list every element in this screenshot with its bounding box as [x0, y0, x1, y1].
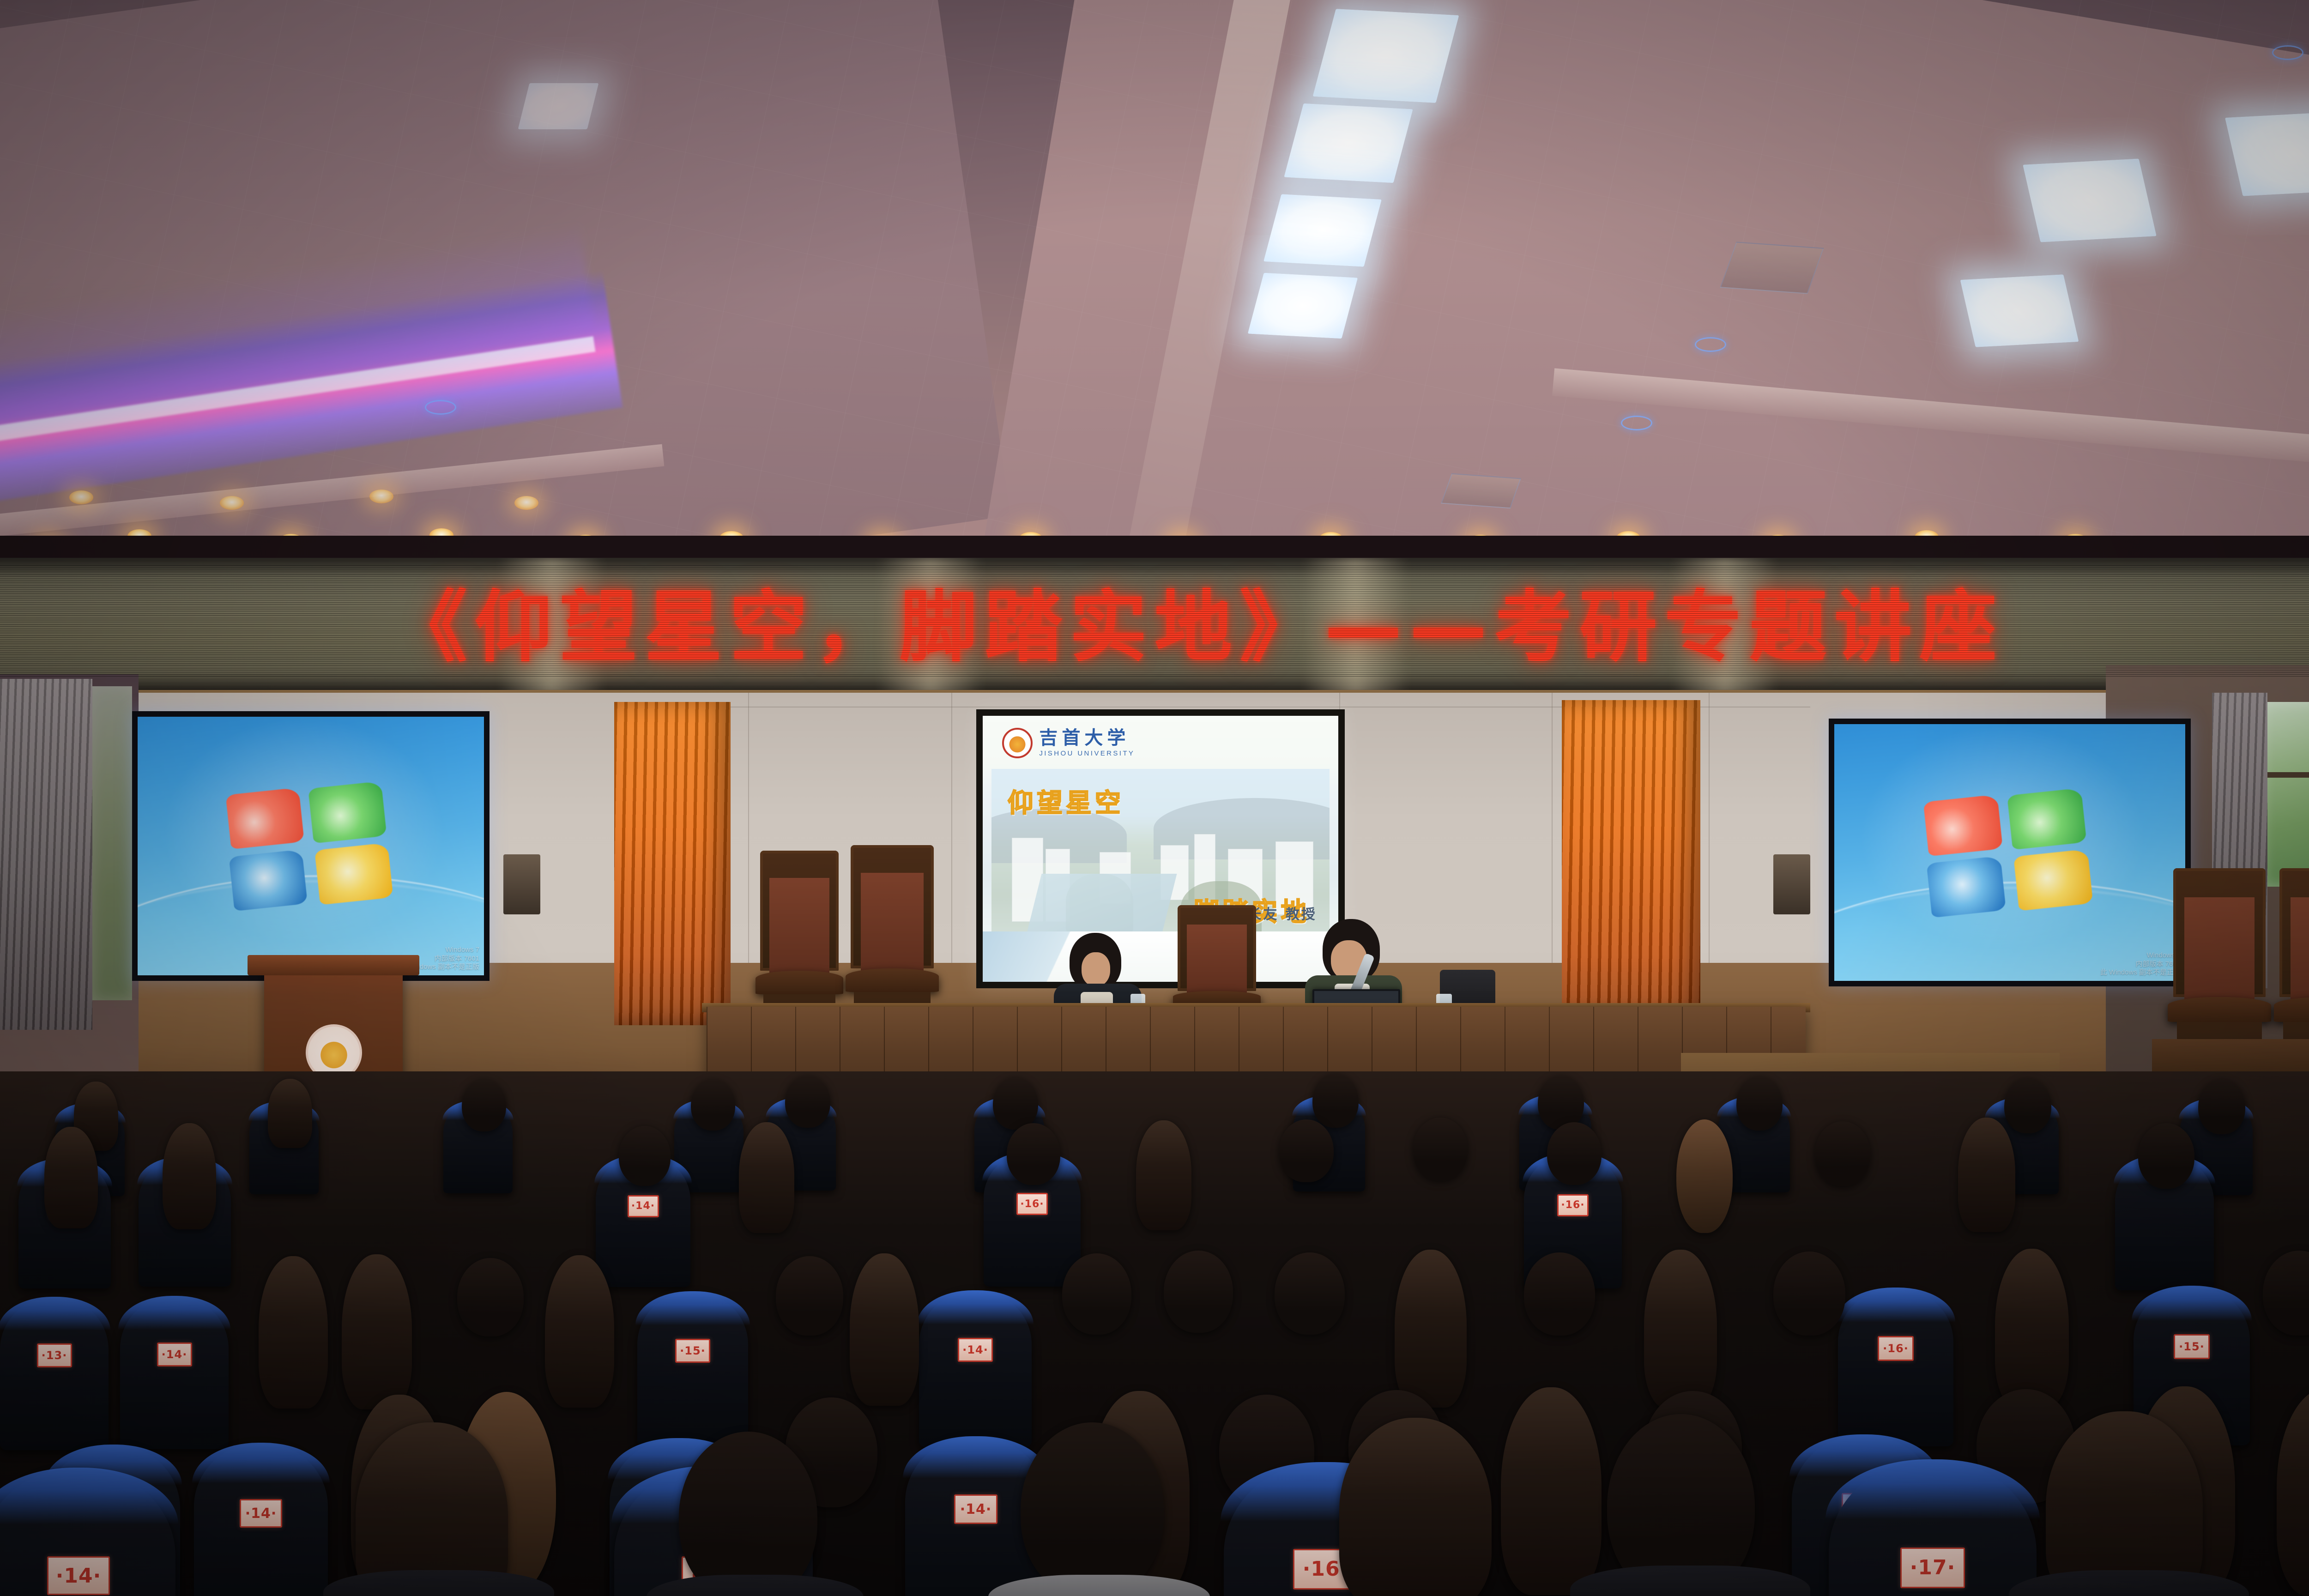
audience-head — [457, 1258, 524, 1336]
window-curtain-left — [0, 679, 92, 1030]
chair-seat — [2274, 997, 2309, 1022]
audience-head — [1395, 1250, 1467, 1408]
chair-seat — [2168, 997, 2271, 1022]
seat-trim — [118, 1296, 230, 1330]
university-name-en: JISHOU UNIVERSITY — [1039, 750, 1135, 757]
audience-head — [2263, 1251, 2309, 1336]
stage-curtain-left — [614, 702, 731, 1025]
window-left — [92, 686, 132, 1000]
presentation-slide: 吉首大学 JISHOU UNIVERSITY 仰望星空 脚踏实地 主讲人 李长友… — [983, 716, 1338, 982]
audience-head — [691, 1080, 735, 1130]
audience-head — [259, 1256, 328, 1409]
seat[interactable]: ·16· — [1838, 1288, 1953, 1446]
audience-head — [2004, 1079, 2051, 1133]
ceiling-panel-light — [1960, 274, 2079, 347]
watermark-line-1: Windows 7 — [399, 946, 479, 955]
windows-logo-quadrant-green — [2007, 788, 2086, 850]
audience-head — [619, 1126, 671, 1186]
ceiling-panel-light — [2023, 158, 2157, 242]
windows-activation-watermark-right: Windows 7 内部版本 7601 此 Windows 副本不是正版 — [2100, 951, 2181, 977]
ceiling-air-vent — [1720, 242, 1824, 294]
audience-head — [2277, 1388, 2309, 1596]
ceiling-speaker-ring — [425, 400, 456, 415]
audience-head — [1815, 1121, 1870, 1186]
slide-bottom-band — [983, 931, 1338, 982]
audience-head — [1736, 1077, 1783, 1130]
audience-head — [1164, 1251, 1233, 1333]
audience-head — [1547, 1122, 1602, 1185]
audience-head — [1339, 1418, 1492, 1596]
audience-head — [1676, 1119, 1733, 1233]
audience-head — [1524, 1252, 1595, 1336]
audience-area: ·12· ·14· ·16· ·16· ·13· — [0, 1071, 2309, 1596]
audience-shoulders — [1570, 1566, 1810, 1596]
chair-seat — [846, 968, 939, 992]
windows-logo-quadrant-yellow — [2013, 849, 2093, 911]
led-banner: 《仰望星空，脚踏实地》——考研专题讲座 — [0, 558, 2309, 696]
wall-speaker-left — [503, 854, 540, 914]
person-face — [1082, 952, 1110, 986]
seat-number-plate: ·13· — [37, 1343, 72, 1367]
window-right-a — [2263, 702, 2309, 887]
audience-head — [679, 1432, 817, 1596]
ceiling-air-vent — [1441, 473, 1521, 509]
seat[interactable]: ·13· — [0, 1298, 109, 1450]
audience-head — [1995, 1249, 2069, 1409]
ceiling — [0, 0, 2309, 536]
chair-pad — [769, 878, 829, 986]
audience-head — [993, 1078, 1038, 1130]
downlight — [514, 496, 538, 510]
audience-head — [268, 1079, 312, 1148]
windows-logo-quadrant-green — [308, 781, 387, 843]
seat-trim — [2132, 1286, 2252, 1321]
watermark-line-1: Windows 7 — [2100, 951, 2181, 960]
projection-screen-left: Windows 7 内部版本 7601 此 Windows 副本不是正版 — [132, 711, 490, 981]
chair-pad — [1187, 925, 1246, 1002]
audience-head — [1958, 1118, 2015, 1232]
seat-number-plate: ·17· — [1900, 1548, 1965, 1588]
audience-head — [44, 1127, 98, 1228]
chair-seat — [756, 971, 843, 994]
seat-number-plate: ·14· — [240, 1499, 282, 1528]
watermark-line-3: 此 Windows 副本不是正版 — [2100, 968, 2181, 977]
projection-screen-right: Windows 7 内部版本 7601 此 Windows 副本不是正版 — [1829, 719, 2191, 986]
ceiling-panel-light — [518, 83, 599, 129]
seat[interactable]: ·14· — [919, 1291, 1032, 1447]
seat[interactable]: ·14· — [194, 1444, 328, 1596]
audience-head — [785, 1076, 830, 1128]
seat-number-plate: ·14· — [628, 1195, 659, 1217]
ceiling-panel-light — [1313, 9, 1459, 103]
window-mullion-horizontal — [2263, 772, 2309, 778]
seat[interactable]: ·15· — [637, 1292, 748, 1447]
audience-head — [1773, 1251, 1845, 1336]
projection-screen-center: 吉首大学 JISHOU UNIVERSITY 仰望星空 脚踏实地 主讲人 李长友… — [976, 709, 1345, 988]
seat-number-plate: ·16· — [1557, 1194, 1589, 1216]
windows-logo-icon — [1923, 786, 2096, 920]
seat-number-plate: ·15· — [675, 1339, 710, 1363]
audience-head — [1538, 1076, 1584, 1130]
university-name-cn: 吉首大学 — [1039, 729, 1135, 747]
ceiling-speaker-ring — [2272, 45, 2303, 60]
led-banner-text: 《仰望星空，脚踏实地》——考研专题讲座 — [0, 564, 2309, 677]
seat-number-plate: ·15· — [2174, 1334, 2210, 1359]
seat-number-plate: ·14· — [954, 1494, 997, 1524]
chair-pad — [2184, 897, 2255, 1014]
audience-head — [1413, 1118, 1468, 1180]
seat[interactable]: ·14· — [120, 1297, 229, 1449]
seat-trim — [1836, 1288, 1955, 1322]
seat[interactable]: ·14· — [0, 1469, 175, 1596]
podium-top — [248, 955, 419, 975]
ceiling-speaker-ring — [1695, 337, 1726, 352]
seat-trim — [0, 1297, 110, 1330]
audience-head — [1275, 1252, 1345, 1335]
seat-number-plate: ·14· — [47, 1556, 110, 1595]
ceiling-panel-light — [1284, 103, 1413, 183]
audience-head — [1501, 1387, 1602, 1595]
audience-head — [776, 1256, 843, 1336]
windows-logo-icon — [225, 779, 396, 913]
downlight — [69, 490, 93, 504]
windows-logo-quadrant-blue — [229, 849, 307, 911]
downlight — [220, 496, 244, 510]
ceiling-panel-light — [1263, 194, 1382, 266]
windows-logo-quadrant-blue — [1927, 856, 2006, 918]
downlight — [369, 490, 393, 503]
audience-head — [2138, 1123, 2194, 1189]
windows-7-desktop-left: Windows 7 内部版本 7601 此 Windows 副本不是正版 — [138, 717, 484, 975]
audience-head — [1136, 1120, 1191, 1230]
audience-head — [1062, 1253, 1131, 1335]
audience-head — [342, 1254, 412, 1409]
slide-university-logo: 吉首大学 JISHOU UNIVERSITY — [1002, 728, 1135, 758]
audience-head — [1021, 1422, 1164, 1596]
audience-head — [739, 1122, 794, 1233]
audience-head — [462, 1080, 506, 1131]
audience-head — [1644, 1250, 1717, 1409]
seat-number-plate: ·16· — [1016, 1193, 1048, 1215]
chair-pad — [2291, 897, 2309, 1014]
seat-number-plate: ·14· — [958, 1338, 993, 1362]
audience-head — [1007, 1123, 1060, 1185]
windows-logo-quadrant-red — [225, 787, 304, 849]
seat[interactable]: ·17· — [1829, 1460, 2037, 1596]
stage-curtain-right — [1562, 700, 1700, 1026]
windows-logo-quadrant-red — [1923, 794, 2003, 856]
audience-head — [1312, 1074, 1359, 1128]
wall-speaker-right — [1773, 854, 1810, 914]
audience-head — [1279, 1119, 1334, 1182]
slide-title-line-1: 仰望星空 — [1008, 782, 1124, 820]
audience-head — [850, 1253, 919, 1406]
audience-head — [2198, 1080, 2245, 1134]
audience-head — [163, 1123, 216, 1229]
ceiling-speaker-ring — [1621, 416, 1652, 430]
ceiling-panel-light — [1248, 273, 1358, 339]
windows-7-desktop-right: Windows 7 内部版本 7601 此 Windows 副本不是正版 — [1834, 724, 2185, 981]
seat-trim — [917, 1290, 1033, 1324]
lecture-hall-photo: 《仰望星空，脚踏实地》——考研专题讲座 — [0, 0, 2309, 1596]
chair-pad — [861, 873, 924, 984]
seat-trim — [635, 1291, 750, 1325]
windows-logo-quadrant-yellow — [314, 843, 393, 905]
audience-head — [545, 1255, 614, 1408]
university-crest-icon — [1002, 728, 1033, 758]
university-name-block: 吉首大学 JISHOU UNIVERSITY — [1039, 729, 1135, 757]
seat-number-plate: ·16· — [1878, 1336, 1914, 1361]
watermark-line-2: 内部版本 7601 — [2100, 960, 2181, 969]
audience-head — [2046, 1411, 2203, 1596]
seat-number-plate: ·14· — [157, 1342, 192, 1366]
